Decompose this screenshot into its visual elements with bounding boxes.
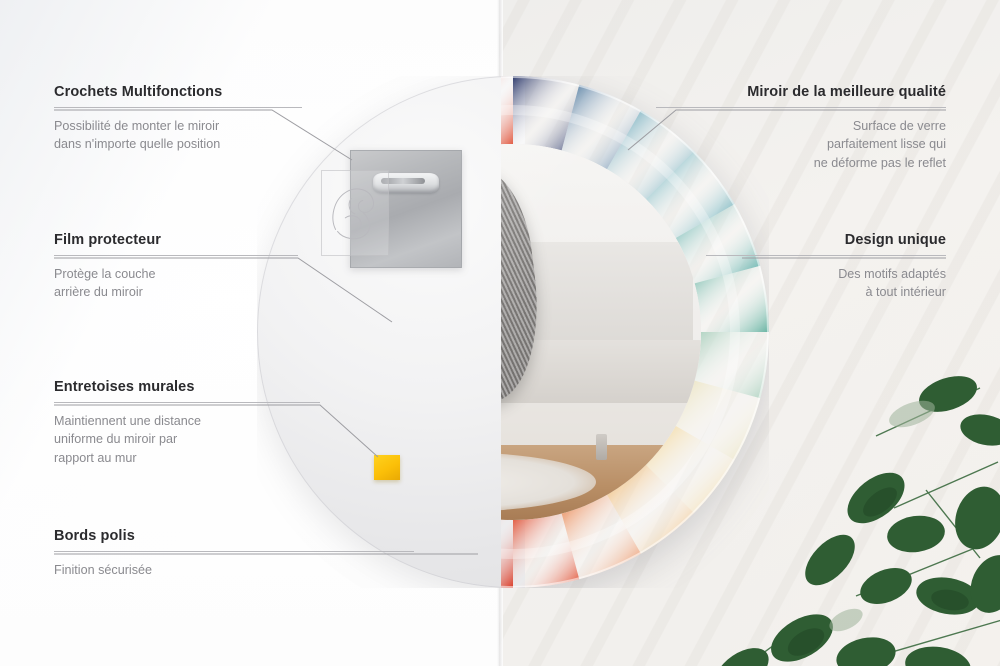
callout-hooks-title: Crochets Multifonctions: [54, 84, 302, 100]
callout-film: Film protecteur Protège la couche arrièr…: [54, 232, 298, 302]
callout-quality-rule: [656, 107, 946, 108]
callout-design-rule: [706, 255, 946, 256]
callout-design-body: Des motifs adaptés à tout intérieur: [706, 265, 946, 302]
callout-quality-title: Miroir de la meilleure qualité: [656, 84, 946, 100]
callout-film-rule: [54, 255, 298, 256]
callout-quality: Miroir de la meilleure qualité Surface d…: [656, 84, 946, 172]
callout-edges: Bords polis Finition sécurisée: [54, 528, 414, 579]
wall-spacer-block: [374, 455, 400, 480]
callout-edges-title: Bords polis: [54, 528, 414, 544]
callout-hooks-body: Possibilité de monter le miroir dans n'i…: [54, 117, 302, 154]
line-art-watermark: [321, 170, 389, 256]
callout-spacers-body: Maintiennent une distance uniforme du mi…: [54, 412, 320, 467]
callout-hooks: Crochets Multifonctions Possibilité de m…: [54, 84, 302, 154]
callout-spacers-rule: [54, 402, 320, 403]
foliage-decoration: [680, 370, 1000, 666]
callout-spacers-title: Entretoises murales: [54, 379, 320, 395]
callout-film-title: Film protecteur: [54, 232, 298, 248]
callout-spacers: Entretoises murales Maintiennent une dis…: [54, 379, 320, 467]
callout-edges-body: Finition sécurisée: [54, 561, 414, 579]
callout-quality-body: Surface de verre parfaitement lisse qui …: [656, 117, 946, 172]
callout-design-title: Design unique: [706, 232, 946, 248]
infographic-stage: Crochets Multifonctions Possibilité de m…: [0, 0, 1000, 666]
callout-film-body: Protège la couche arrière du miroir: [54, 265, 298, 302]
callout-design: Design unique Des motifs adaptés à tout …: [706, 232, 946, 302]
callout-edges-rule: [54, 551, 414, 552]
callout-hooks-rule: [54, 107, 302, 108]
